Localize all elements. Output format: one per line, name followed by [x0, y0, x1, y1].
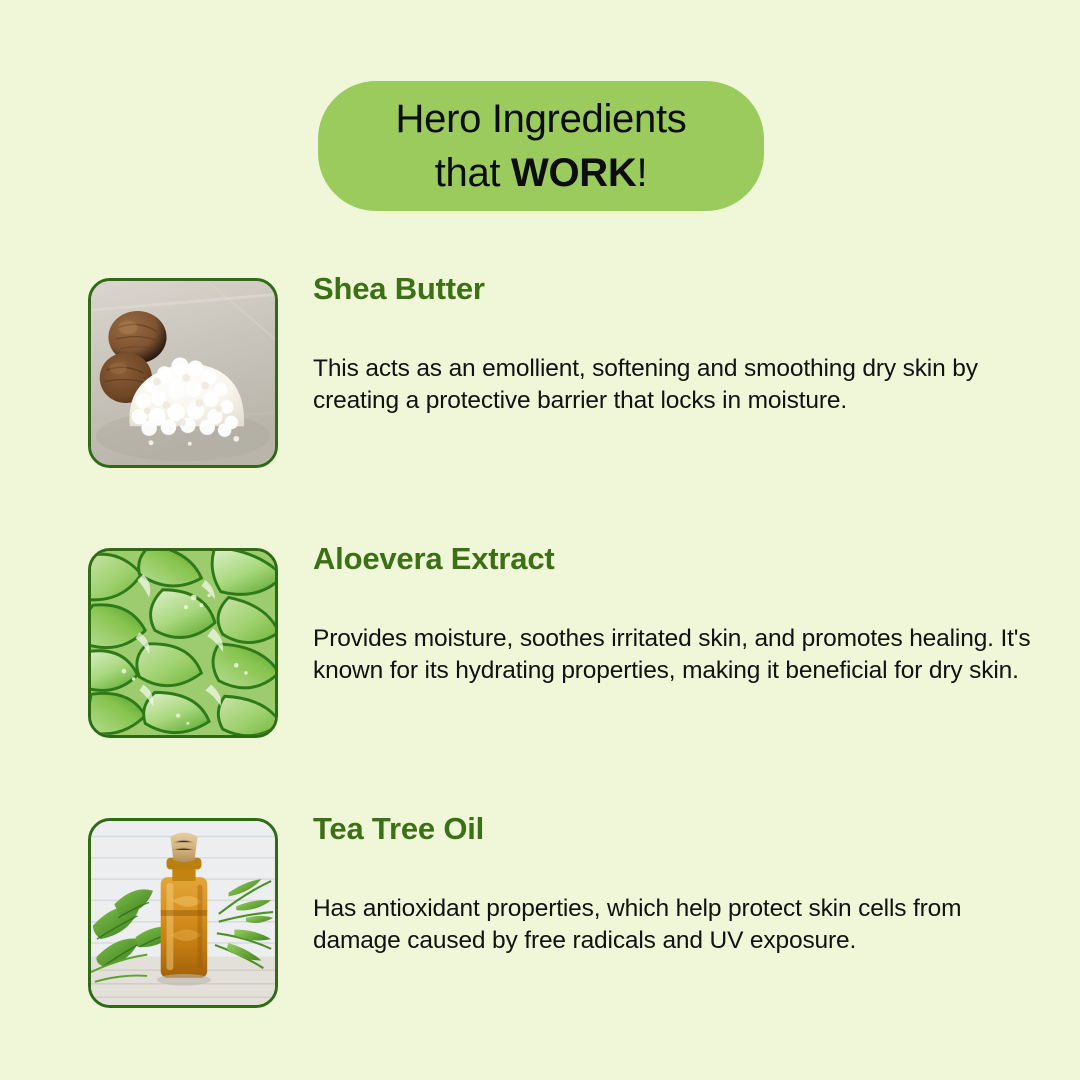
- ingredient-item-shea-butter: Shea Butter This acts as an emollient, s…: [0, 270, 1080, 470]
- aloevera-photo-frame: [88, 548, 278, 738]
- tea-tree-oil-text-column: Tea Tree Oil Has antioxidant properties,…: [313, 810, 1040, 957]
- ingredient-item-tea-tree-oil: Tea Tree Oil Has antioxidant properties,…: [0, 810, 1080, 1010]
- header-line-2: that WORK!: [435, 146, 648, 200]
- shea-butter-photo: [91, 281, 275, 465]
- header-line-1: Hero Ingredients: [396, 92, 687, 146]
- shea-butter-text-column: Shea Butter This acts as an emollient, s…: [313, 270, 1040, 417]
- tea-tree-oil-photo-frame: [88, 818, 278, 1008]
- header-line-2-suffix: !: [636, 151, 647, 195]
- poster-canvas: Hero Ingredients that WORK!: [0, 0, 1080, 1080]
- header-line-2-prefix: that: [435, 151, 511, 195]
- ingredient-title-shea-butter: Shea Butter: [313, 270, 1040, 308]
- aloevera-text-column: Aloevera Extract Provides moisture, soot…: [313, 540, 1040, 687]
- ingredient-title-tea-tree-oil: Tea Tree Oil: [313, 810, 1040, 848]
- shea-butter-photo-frame: [88, 278, 278, 468]
- ingredient-description-shea-butter: This acts as an emollient, softening and…: [313, 353, 1028, 417]
- ingredient-description-tea-tree-oil: Has antioxidant properties, which help p…: [313, 893, 1013, 957]
- aloevera-photo: [91, 551, 275, 735]
- ingredient-item-aloevera-extract: Aloevera Extract Provides moisture, soot…: [0, 540, 1080, 740]
- header-line-2-bold: WORK: [511, 151, 636, 195]
- ingredient-title-aloevera-extract: Aloevera Extract: [313, 540, 1040, 578]
- tea-tree-oil-photo: [91, 821, 275, 1005]
- ingredient-description-aloevera-extract: Provides moisture, soothes irritated ski…: [313, 623, 1040, 687]
- header-badge: Hero Ingredients that WORK!: [318, 81, 764, 211]
